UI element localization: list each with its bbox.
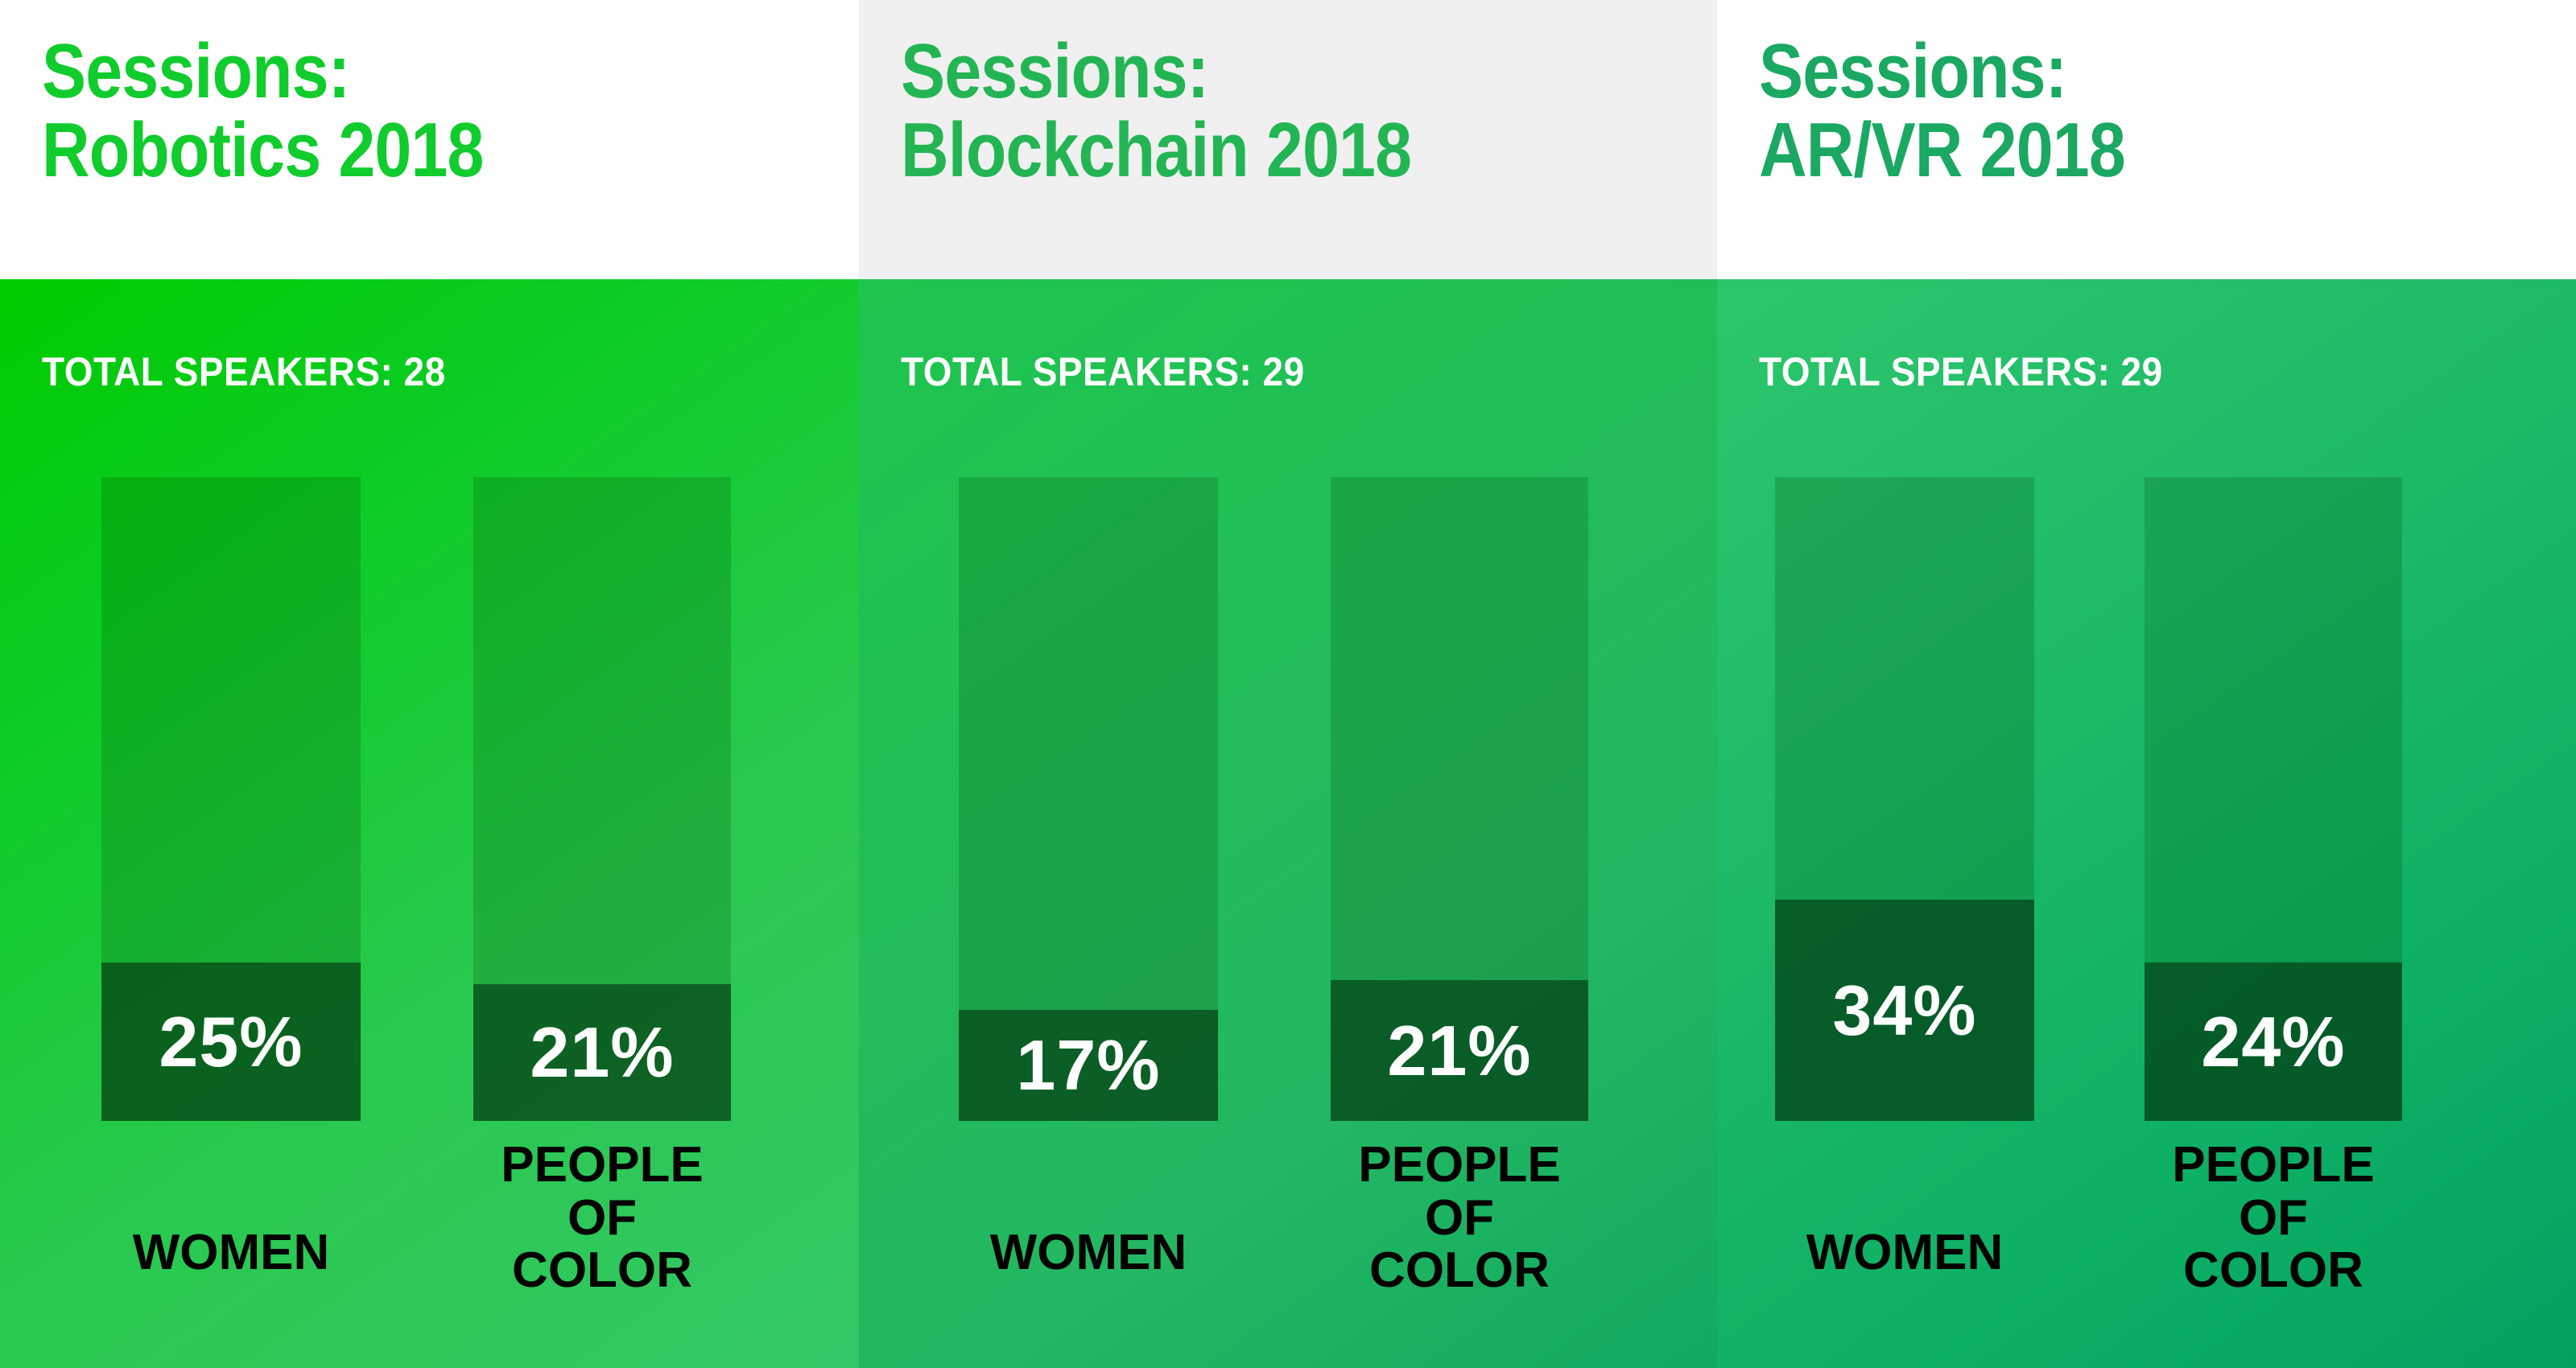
bar-fill-people-of-color: 21% [1331, 980, 1588, 1121]
bar-track-people-of-color: 21% [473, 477, 731, 1121]
bar-value-people-of-color: 21% [1387, 1016, 1531, 1086]
panel-robotics-bars: 25% WOMEN 21% PEOPLE OF COLOR [0, 279, 859, 1368]
panel-blockchain-body: TOTAL SPEAKERS: 29 17% WOMEN 21% [859, 279, 1717, 1368]
panel-robotics-title: Sessions: Robotics 2018 [42, 32, 484, 190]
bar-value-women: 25% [159, 1007, 303, 1078]
bar-value-women: 34% [1832, 975, 1976, 1046]
bar-value-people-of-color: 24% [2201, 1007, 2345, 1078]
panel-blockchain: Sessions: Blockchain 2018 TOTAL SPEAKERS… [859, 0, 1717, 1368]
panel-blockchain-header: Sessions: Blockchain 2018 [859, 0, 1717, 279]
bar-group-women: 17% WOMEN [959, 279, 1218, 1368]
bar-label-women: WOMEN [133, 1226, 330, 1279]
bar-label-people-of-color: PEOPLE OF COLOR [501, 1139, 704, 1297]
bar-label-women: WOMEN [1806, 1226, 2004, 1279]
panel-blockchain-bars: 17% WOMEN 21% PEOPLE OF COLOR [859, 279, 1717, 1368]
bar-fill-people-of-color: 24% [2145, 962, 2402, 1121]
bar-group-women: 34% WOMEN [1775, 279, 2034, 1368]
bar-group-women: 25% WOMEN [101, 279, 361, 1368]
panel-arvr-body: TOTAL SPEAKERS: 29 34% WOMEN 24% [1717, 279, 2576, 1368]
panel-arvr-header: Sessions: AR/VR 2018 [1717, 0, 2576, 279]
panel-robotics-body: TOTAL SPEAKERS: 28 25% WOMEN 21% [0, 279, 859, 1368]
bar-fill-people-of-color: 21% [473, 984, 731, 1121]
bar-label-people-of-color: PEOPLE OF COLOR [1358, 1139, 1561, 1297]
bar-track-women: 34% [1775, 477, 2034, 1121]
bar-track-women: 25% [101, 477, 361, 1121]
bar-fill-women: 17% [959, 1010, 1218, 1121]
bar-fill-women: 34% [1775, 900, 2034, 1121]
bar-group-people-of-color: 24% PEOPLE OF COLOR [2145, 279, 2402, 1368]
panel-arvr-title: Sessions: AR/VR 2018 [1759, 32, 2125, 190]
bar-label-women: WOMEN [990, 1226, 1187, 1279]
bar-track-women: 17% [959, 477, 1218, 1121]
panel-robotics: Sessions: Robotics 2018 TOTAL SPEAKERS: … [0, 0, 859, 1368]
panel-arvr: Sessions: AR/VR 2018 TOTAL SPEAKERS: 29 … [1717, 0, 2576, 1368]
bar-group-people-of-color: 21% PEOPLE OF COLOR [1331, 279, 1588, 1368]
panel-arvr-bars: 34% WOMEN 24% PEOPLE OF COLOR [1717, 279, 2576, 1368]
bar-group-people-of-color: 21% PEOPLE OF COLOR [473, 279, 731, 1368]
panel-robotics-header: Sessions: Robotics 2018 [0, 0, 859, 279]
bar-value-people-of-color: 21% [530, 1017, 674, 1088]
bar-track-people-of-color: 24% [2145, 477, 2402, 1121]
bar-fill-women: 25% [101, 962, 361, 1121]
bar-label-people-of-color: PEOPLE OF COLOR [2172, 1139, 2375, 1297]
bar-track-people-of-color: 21% [1331, 477, 1588, 1121]
bar-value-women: 17% [1016, 1030, 1160, 1101]
diversity-sessions-infographic: Sessions: Robotics 2018 TOTAL SPEAKERS: … [0, 0, 2576, 1368]
panel-blockchain-title: Sessions: Blockchain 2018 [901, 32, 1411, 190]
